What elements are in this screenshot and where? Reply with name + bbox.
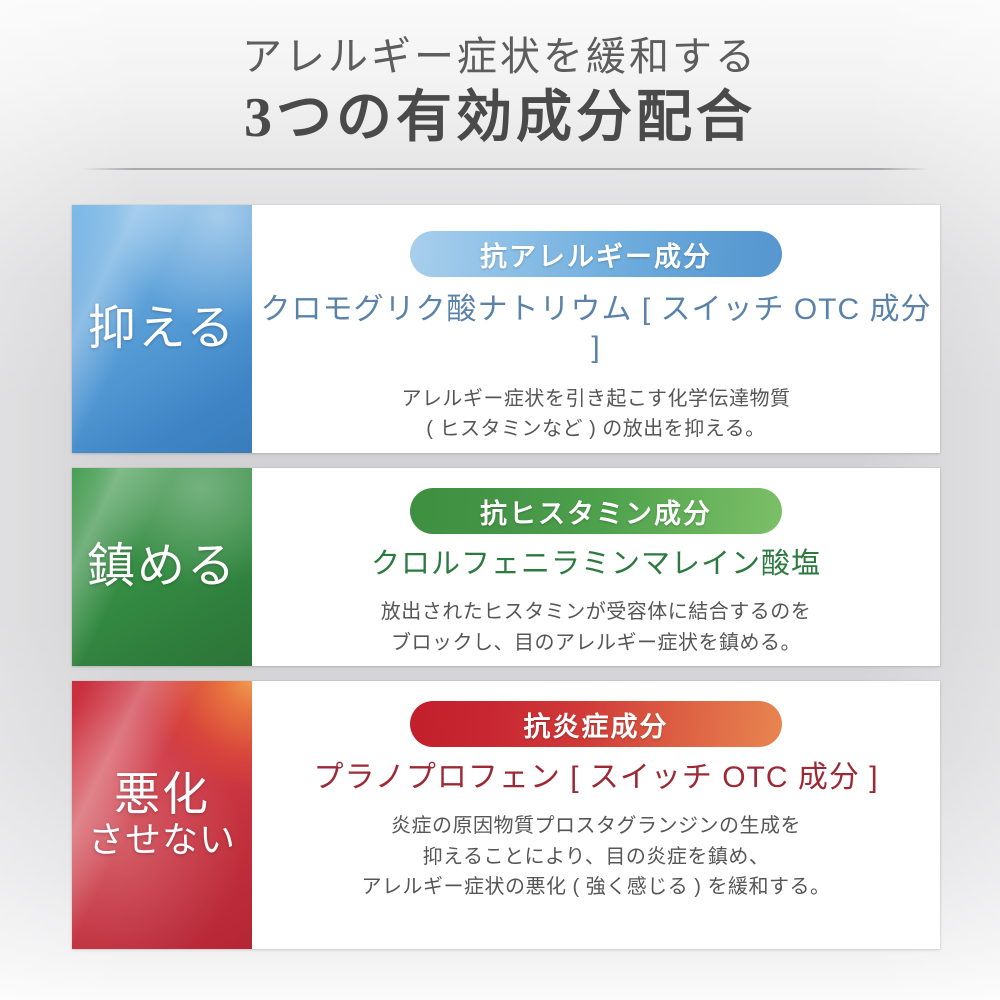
description-line-1: 炎症の原因物質プロスタグランジンの生成を [361,811,830,841]
card-body: 抗ヒスタミン成分 クロルフェニラミンマレイン酸塩 放出されたヒスタミンが受容体に… [252,468,940,666]
page-title-line-2: 3つの有効成分配合 [0,84,1000,152]
ingredient-description: アレルギー症状を引き起こす化学伝達物質 ( ヒスタミンなど ) の放出を抑える。 [401,384,790,445]
ingredient-name: プラノプロフェン [ スイッチ OTC 成分 ] [313,759,878,797]
description-line-1: アレルギー症状を引き起こす化学伝達物質 [401,384,790,414]
swatch-label-primary: 抑える [88,303,237,355]
ingredient-name-line-1: プラノプロフェン [313,761,560,794]
category-badge: 抗ヒスタミン成分 [410,488,782,534]
infographic-page: アレルギー症状を緩和する 3つの有効成分配合 抑える 抗アレルギー成分 クロモグ… [0,0,1000,1000]
page-header: アレルギー症状を緩和する 3つの有効成分配合 [0,32,1000,152]
ingredient-name: クロモグリク酸ナトリウム [ スイッチ OTC 成分 ] [252,291,940,368]
page-title-line-1: アレルギー症状を緩和する [0,32,1000,82]
description-line-2: ブロックし、目のアレルギー症状を鎮める。 [381,628,812,658]
ingredient-description: 炎症の原因物質プロスタグランジンの生成を 抑えることにより、目の炎症を鎮め、 ア… [361,811,830,902]
header-divider [82,168,930,170]
card-swatch-blue: 抑える [72,205,252,453]
ingredient-name-line-2: [ スイッチ OTC 成分 ] [591,293,931,364]
ingredient-description: 放出されたヒスタミンが受容体に結合するのを ブロックし、目のアレルギー症状を鎮め… [381,597,812,658]
ingredient-card-anti-inflammatory: 悪化 させない 抗炎症成分 プラノプロフェン [ スイッチ OTC 成分 ] 炎… [72,681,940,949]
swatch-label-primary: 鎮める [87,541,237,593]
card-swatch-green: 鎮める [72,468,252,666]
category-badge: 抗炎症成分 [410,701,782,747]
description-line-1: 放出されたヒスタミンが受容体に結合するのを [381,597,812,627]
description-line-2: 抑えることにより、目の炎症を鎮め、 [361,842,830,872]
card-swatch-red: 悪化 させない [72,681,252,949]
category-badge: 抗アレルギー成分 [410,231,782,277]
card-body: 抗アレルギー成分 クロモグリク酸ナトリウム [ スイッチ OTC 成分 ] アレ… [252,205,940,453]
ingredient-name-line-1: クロモグリク酸ナトリウム [260,293,632,326]
ingredient-name-line-2: [ スイッチ OTC 成分 ] [570,761,878,794]
ingredient-card-anti-allergy: 抑える 抗アレルギー成分 クロモグリク酸ナトリウム [ スイッチ OTC 成分 … [72,205,940,453]
description-line-3: アレルギー症状の悪化 ( 強く感じる ) を緩和する。 [361,872,830,902]
description-line-2: ( ヒスタミンなど ) の放出を抑える。 [401,414,790,444]
card-body: 抗炎症成分 プラノプロフェン [ スイッチ OTC 成分 ] 炎症の原因物質プロ… [252,681,940,949]
swatch-label-secondary: させない [88,821,236,860]
ingredient-card-antihistamine: 鎮める 抗ヒスタミン成分 クロルフェニラミンマレイン酸塩 放出されたヒスタミンが… [72,468,940,666]
ingredient-name-line-1: クロルフェニラミンマレイン酸塩 [371,548,821,580]
swatch-label-primary: 悪化 [114,770,210,820]
ingredient-name: クロルフェニラミンマレイン酸塩 [371,546,821,583]
